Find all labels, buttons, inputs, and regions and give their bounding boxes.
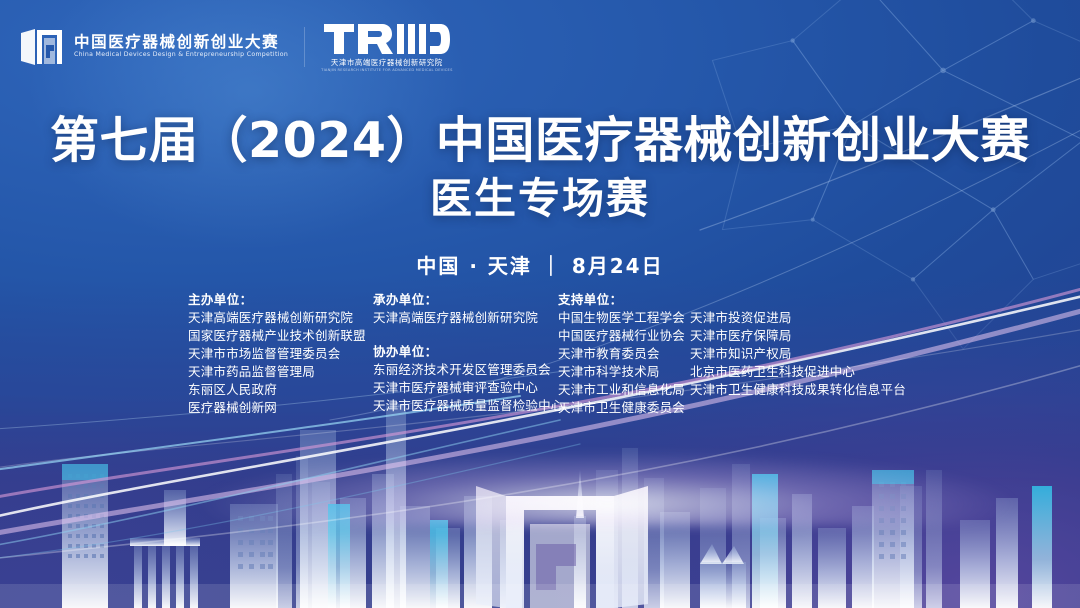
org-item: 天津市医疗保障局 bbox=[690, 327, 906, 345]
event-meta: 中国 · 天津 ｜ 8月24日 bbox=[0, 250, 1080, 279]
main-title: 第七届（2024）中国医疗器械创新创业大赛 bbox=[0, 112, 1080, 170]
competition-logo[interactable]: 中国医疗器械创新创业大赛 China Medical Devices Desig… bbox=[18, 24, 288, 70]
competition-logo-en: China Medical Devices Design & Entrepren… bbox=[74, 52, 288, 59]
logo-divider bbox=[304, 27, 305, 67]
org-item: 天津市卫生健康委员会 bbox=[558, 399, 690, 417]
org-column-organizer: 承办单位： 天津高端医疗器械创新研究院 协办单位： 东丽经济技术开发区管理委员会… bbox=[373, 291, 558, 415]
trimd-wordmark-icon bbox=[324, 22, 450, 56]
org-item: 医疗器械创新网 bbox=[188, 399, 373, 417]
org-heading: 主办单位： bbox=[188, 291, 373, 309]
org-item: 中国医疗器械行业协会 bbox=[558, 327, 690, 345]
org-column-support-b: 天津市投资促进局 天津市医疗保障局 天津市知识产权局 北京市医药卫生科技促进中心… bbox=[690, 291, 906, 399]
org-item: 天津高端医疗器械创新研究院 bbox=[188, 309, 373, 327]
org-heading: 协办单位： bbox=[373, 343, 558, 361]
trimd-logo-en: TIANJIN RESEARCH INSTITUTE FOR ADVANCED … bbox=[321, 69, 453, 73]
trimd-logo[interactable]: 天津市高端医疗器械创新研究院 TIANJIN RESEARCH INSTITUT… bbox=[321, 20, 453, 73]
org-item: 天津市科学技术局 bbox=[558, 363, 690, 381]
org-heading: 支持单位： bbox=[558, 291, 690, 309]
org-item: 天津市工业和信息化局 bbox=[558, 381, 690, 399]
org-item: 天津市药品监督管理局 bbox=[188, 363, 373, 381]
org-item: 中国生物医学工程学会 bbox=[558, 309, 690, 327]
org-item: 天津市市场监督管理委员会 bbox=[188, 345, 373, 363]
org-item: 北京市医药卫生科技促进中心 bbox=[690, 363, 906, 381]
org-item: 东丽区人民政府 bbox=[188, 381, 373, 399]
org-item: 东丽经济技术开发区管理委员会 bbox=[373, 361, 558, 379]
org-item: 天津市卫生健康科技成果转化信息平台 bbox=[690, 381, 906, 399]
org-heading: 承办单位： bbox=[373, 291, 558, 309]
org-item: 天津市医疗器械质量监督检验中心 bbox=[373, 397, 558, 415]
sub-title: 医生专场赛 bbox=[0, 172, 1080, 227]
poster-canvas: 中国医疗器械创新创业大赛 China Medical Devices Desig… bbox=[0, 0, 1080, 608]
org-item: 天津市知识产权局 bbox=[690, 345, 906, 363]
org-item: 天津市医疗器械审评查验中心 bbox=[373, 379, 558, 397]
org-item: 天津市投资促进局 bbox=[690, 309, 906, 327]
org-group-support-continued: 天津市投资促进局 天津市医疗保障局 天津市知识产权局 北京市医药卫生科技促进中心… bbox=[690, 291, 906, 399]
org-item: 天津市教育委员会 bbox=[558, 345, 690, 363]
heading-spacer bbox=[690, 291, 906, 309]
title-block: 第七届（2024）中国医疗器械创新创业大赛 医生专场赛 中国 · 天津 ｜ 8月… bbox=[0, 112, 1080, 279]
org-item: 天津高端医疗器械创新研究院 bbox=[373, 309, 558, 327]
trimd-logo-cn: 天津市高端医疗器械创新研究院 bbox=[331, 59, 443, 66]
org-column-support-a: 支持单位： 中国生物医学工程学会 中国医疗器械行业协会 天津市教育委员会 天津市… bbox=[558, 291, 690, 417]
org-group-support: 支持单位： 中国生物医学工程学会 中国医疗器械行业协会 天津市教育委员会 天津市… bbox=[558, 291, 690, 417]
door-mark-icon bbox=[18, 24, 64, 70]
org-column-host: 主办单位： 天津高端医疗器械创新研究院 国家医疗器械产业技术创新联盟 天津市市场… bbox=[188, 291, 373, 417]
competition-logo-cn: 中国医疗器械创新创业大赛 bbox=[74, 35, 288, 51]
org-group-host: 主办单位： 天津高端医疗器械创新研究院 国家医疗器械产业技术创新联盟 天津市市场… bbox=[188, 291, 373, 417]
org-group-organizer: 承办单位： 天津高端医疗器械创新研究院 bbox=[373, 291, 558, 327]
org-item: 国家医疗器械产业技术创新联盟 bbox=[188, 327, 373, 345]
header-logo-group: 中国医疗器械创新创业大赛 China Medical Devices Desig… bbox=[18, 20, 453, 73]
org-group-co-organizer: 协办单位： 东丽经济技术开发区管理委员会 天津市医疗器械审评查验中心 天津市医疗… bbox=[373, 343, 558, 415]
organizations-block: 主办单位： 天津高端医疗器械创新研究院 国家医疗器械产业技术创新联盟 天津市市场… bbox=[188, 291, 906, 417]
